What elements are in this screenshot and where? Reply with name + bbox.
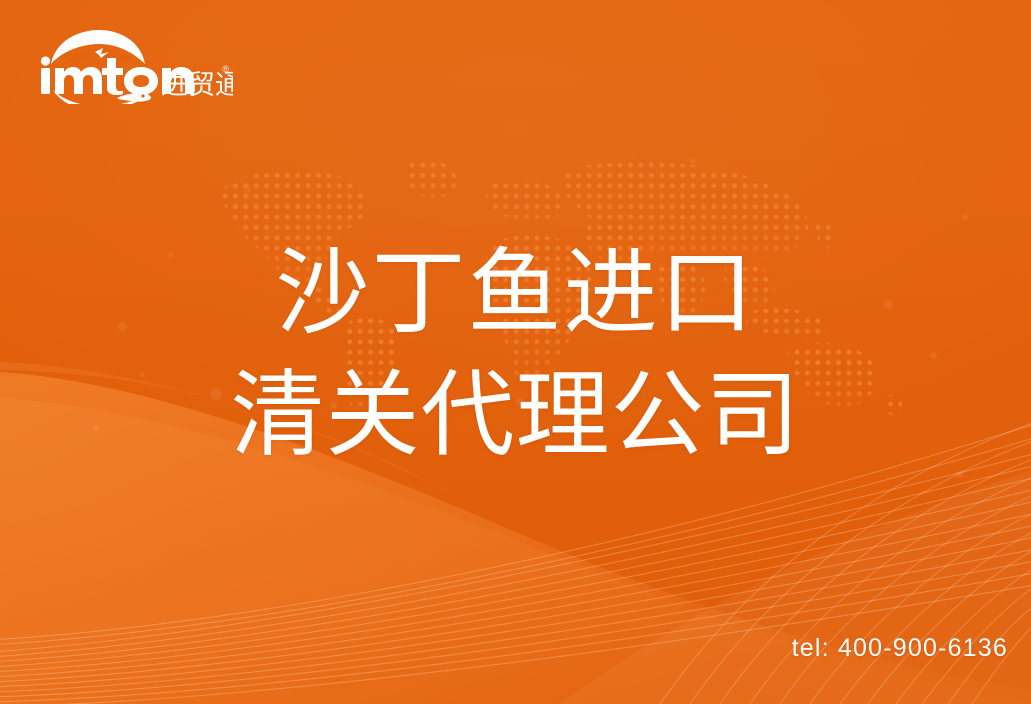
headline-line-1: 沙丁鱼进口 <box>0 232 1031 354</box>
globe-icon <box>51 30 145 64</box>
logo-chinese-name: 进贸通 <box>161 70 233 100</box>
contact-phone[interactable]: tel: 400-900-6136 <box>792 634 1008 663</box>
brand-logo[interactable]: 进贸通 ® <box>33 28 233 104</box>
page-title: 沙丁鱼进口 清关代理公司 <box>0 232 1031 476</box>
headline-line-2: 清关代理公司 <box>0 354 1031 476</box>
promo-banner: 沙丁鱼进口 清关代理公司 <box>0 0 1031 704</box>
trademark-symbol: ® <box>222 64 229 74</box>
